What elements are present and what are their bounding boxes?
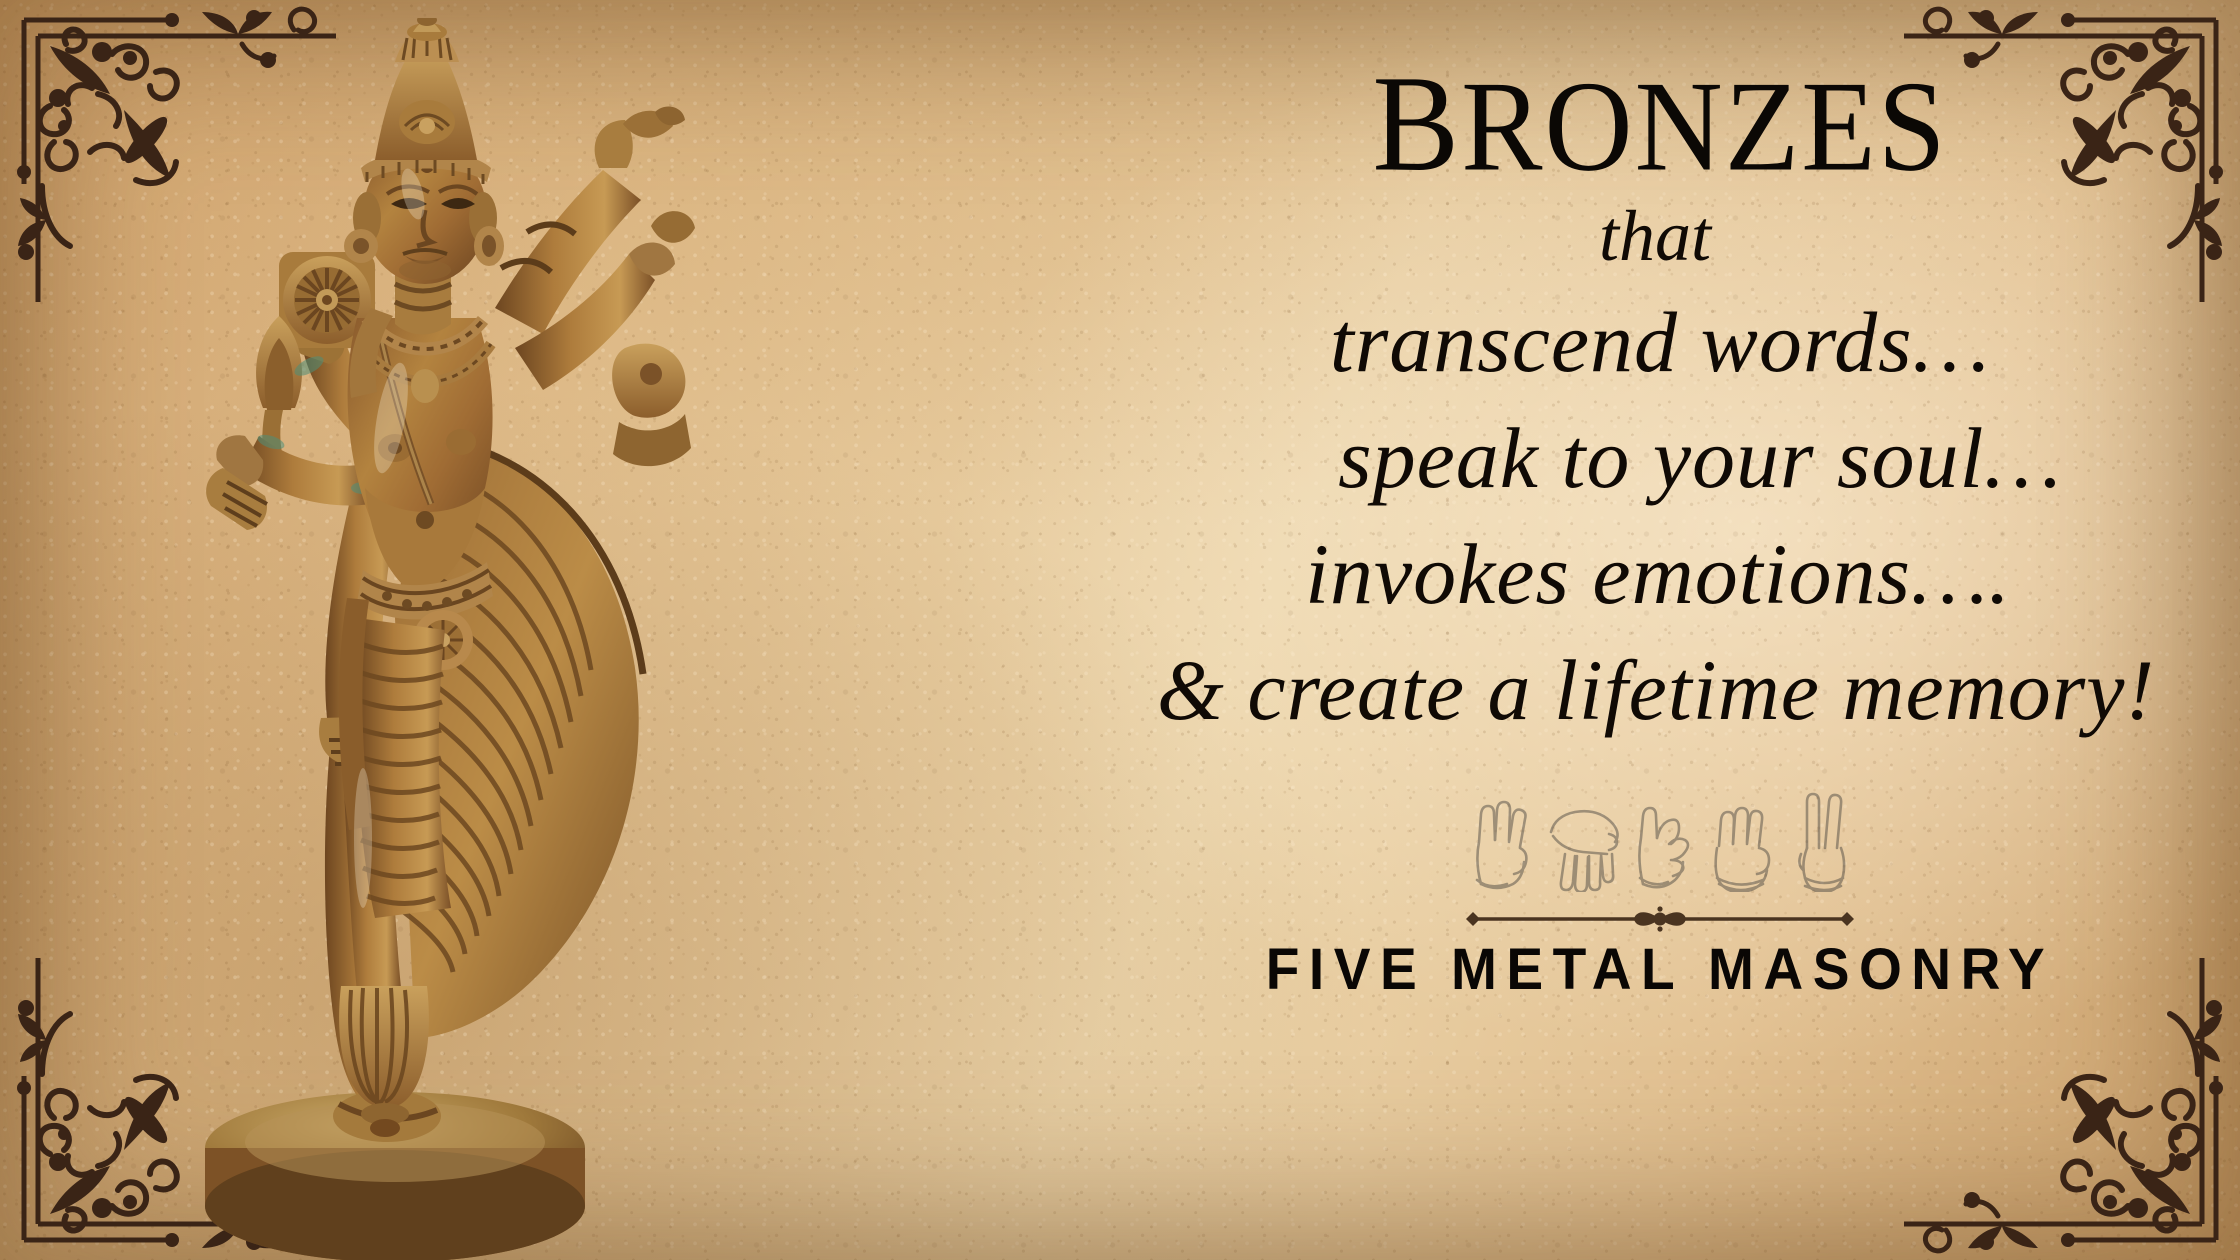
mudra-curled-fingers-icon <box>1629 796 1699 892</box>
tagline-line-0: that <box>1599 195 1711 278</box>
page-title: BRONZES <box>1372 58 1947 190</box>
mudra-sketch-row <box>1463 792 1857 892</box>
brand-name: FIVE METAL MASONRY <box>1266 936 2054 1003</box>
page-title-initial: B <box>1372 48 1461 201</box>
message-column: BRONZES that transcend words… speak to y… <box>1080 0 2240 1260</box>
divider-ornament <box>1456 906 1864 932</box>
tagline-line-4: & create a lifetime memory! <box>1157 640 2155 740</box>
statue-crown <box>361 18 491 184</box>
tagline-line-1: transcend words… <box>1330 292 1990 392</box>
page-title-rest: RONZES <box>1461 55 1947 198</box>
tagline-line-3: invokes emotions…. <box>1305 524 2011 624</box>
bronze-deity-statue <box>95 18 735 1260</box>
mudra-two-fingers-raised-icon <box>1787 792 1857 892</box>
poster-canvas: BRONZES that transcend words… speak to y… <box>0 0 2240 1260</box>
statue-right-attribute <box>612 344 691 466</box>
tagline-line-2: speak to your soul… <box>1338 408 2062 508</box>
divider-center-knot <box>1634 906 1686 931</box>
mudra-downturned-hand-icon <box>1543 796 1623 892</box>
mudra-open-palm-icon <box>1463 796 1537 892</box>
mudra-fist-thumb-icon <box>1705 796 1781 892</box>
